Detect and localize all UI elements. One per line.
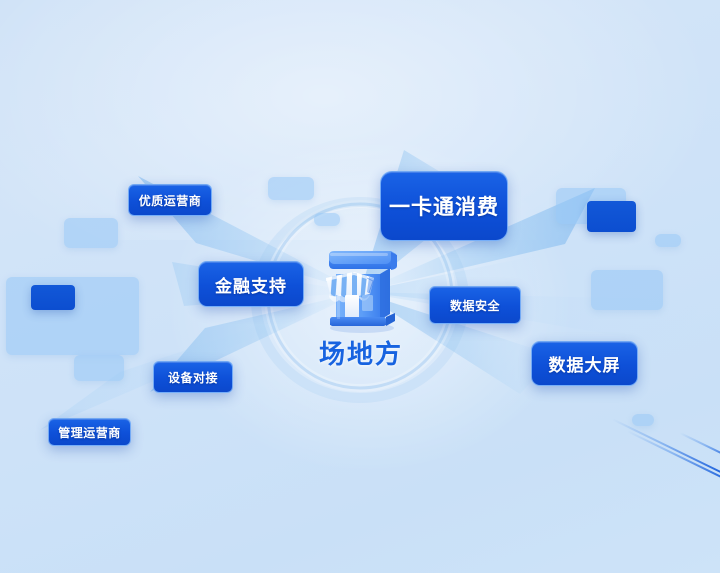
label-chip-jinrong[interactable]: 金融支持 [198, 261, 304, 307]
page-title: 场地方 [296, 334, 426, 371]
label-chip-shujudaping[interactable]: 数据大屏 [531, 341, 638, 386]
decorative-rect-light [314, 213, 340, 226]
decorative-rect-solid [31, 285, 75, 310]
decorative-rect-light [74, 355, 124, 381]
decorative-rect-solid [587, 201, 636, 232]
decorative-streak-line [627, 430, 720, 481]
decorative-rect-light [655, 234, 681, 247]
label-chip-shebeiduijie[interactable]: 设备对接 [153, 361, 233, 393]
label-chip-youzhiyunyingshang[interactable]: 优质运营商 [128, 184, 212, 216]
decorative-rect-light [268, 177, 314, 200]
infographic-canvas: 场地方 一卡通消费金融支持数据大屏数据安全优质运营商设备对接管理运营商 [0, 0, 720, 573]
label-chip-text: 管理运营商 [58, 424, 121, 441]
label-chip-shujuanquan[interactable]: 数据安全 [429, 286, 521, 324]
label-chip-text: 一卡通消费 [389, 191, 499, 221]
label-chip-text: 数据大屏 [549, 351, 621, 376]
storefront-icon [312, 248, 408, 334]
label-chip-text: 数据安全 [450, 297, 500, 314]
decorative-rect-light [632, 414, 654, 426]
label-chip-text: 设备对接 [168, 369, 218, 386]
label-chip-yikatong[interactable]: 一卡通消费 [380, 171, 508, 241]
decorative-rect-light [64, 218, 118, 248]
label-chip-text: 金融支持 [215, 272, 287, 297]
label-chip-text: 优质运营商 [139, 192, 202, 209]
label-chip-guanliyunyingshang[interactable]: 管理运营商 [48, 418, 131, 446]
decorative-rect-light [591, 270, 663, 310]
